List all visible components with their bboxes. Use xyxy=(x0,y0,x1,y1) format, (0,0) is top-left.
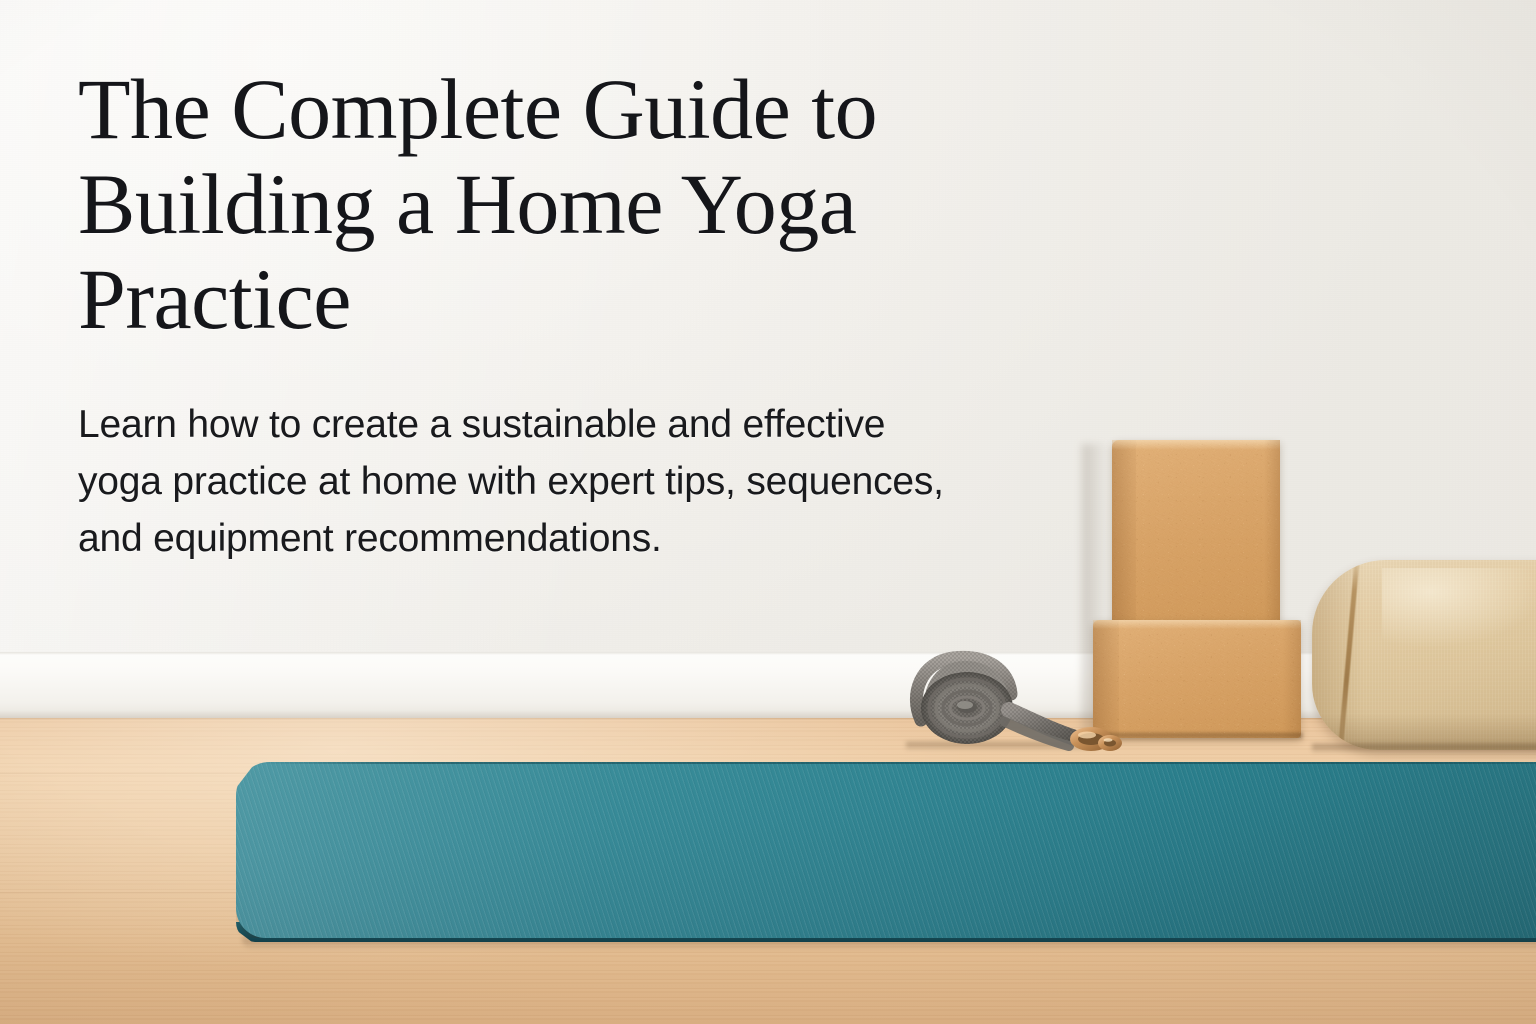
cork-block-top-highlight xyxy=(1112,440,1280,450)
cork-block-left-face xyxy=(1112,440,1136,636)
page-subtitle: Learn how to create a sustainable and ef… xyxy=(78,396,978,567)
mat-surface xyxy=(236,762,1536,938)
cork-block-right-bevel xyxy=(1264,440,1280,636)
cork-speckle-texture xyxy=(1112,440,1280,636)
page-title: The Complete Guide to Building a Home Yo… xyxy=(78,62,998,347)
yoga-mat xyxy=(236,762,1536,944)
mat-top-edge-line xyxy=(254,762,1536,764)
cork-block-top-highlight xyxy=(1093,620,1301,629)
yoga-strap-icon xyxy=(905,648,1145,756)
hero-scene: The Complete Guide to Building a Home Yo… xyxy=(0,0,1536,1024)
cork-block-upper xyxy=(1112,440,1280,636)
cork-block-right-bevel xyxy=(1283,620,1301,738)
bolster-contact-shadow xyxy=(1312,744,1536,754)
bolster-highlight xyxy=(1382,568,1536,648)
yoga-strap xyxy=(905,648,1145,756)
baseboard-top-edge xyxy=(0,652,1536,655)
mat-sheen xyxy=(236,762,1536,938)
yoga-bolster xyxy=(1312,560,1536,750)
